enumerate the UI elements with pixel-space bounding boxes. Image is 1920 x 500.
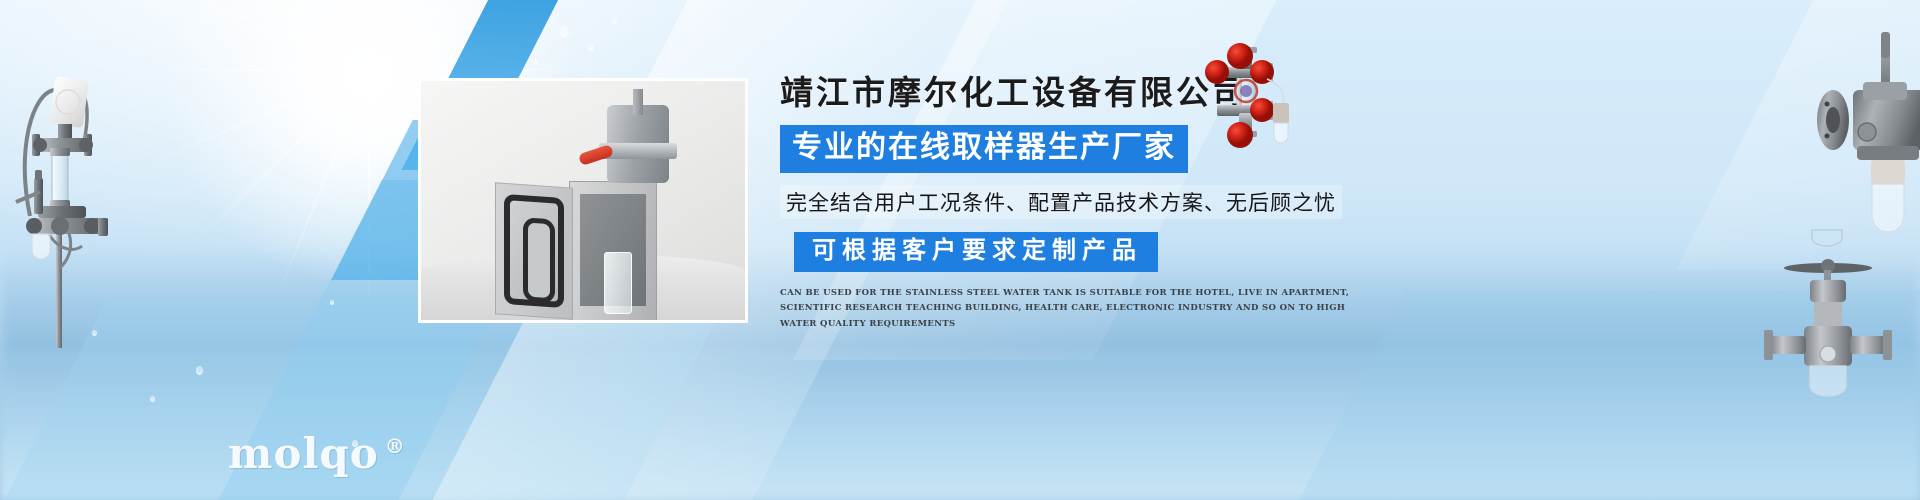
- watermark-text: molqo: [228, 429, 379, 478]
- sun-ray-icon: [368, 0, 370, 70]
- bottom-valve-illustration: [1760, 228, 1900, 403]
- water-droplet-icon: [534, 60, 538, 65]
- cta-badge[interactable]: 可根据客户要求定制产品: [794, 232, 1158, 272]
- water-droplet-icon: [588, 44, 594, 51]
- cross-valve-icon: [1205, 35, 1380, 160]
- photo-door-window: [523, 217, 555, 303]
- sub-headline: 完全结合用户工况条件、配置产品技术方案、无后顾之忧: [780, 185, 1342, 219]
- left-sampler-icon: [10, 20, 190, 350]
- water-droplet-icon: [560, 26, 569, 37]
- photo-cabinet-door: [495, 182, 573, 319]
- photo-cabinet-body: [569, 181, 657, 321]
- flange-valve-icon: [1805, 20, 1920, 235]
- photo-door-seal: [504, 194, 564, 308]
- registered-mark-icon: ®: [385, 434, 406, 458]
- water-droplet-icon: [330, 300, 334, 305]
- headline-badge: 专业的在线取样器生产厂家: [780, 125, 1188, 173]
- product-photo[interactable]: [418, 78, 748, 323]
- water-droplet-icon: [150, 396, 155, 402]
- photo-sample-bottle: [604, 252, 632, 314]
- double-flange-valve-icon: [1760, 228, 1900, 398]
- red-handwheel-icon: [1205, 60, 1229, 84]
- photo-valve-stem: [633, 89, 643, 115]
- promo-banner: 靖江市摩尔化工设备有限公司 专业的在线取样器生产厂家 完全结合用户工况条件、配置…: [0, 0, 1920, 500]
- watermark-logo: molqo®: [228, 429, 406, 478]
- cross-valve-illustration: [1205, 35, 1365, 150]
- red-handwheel-icon: [1227, 43, 1253, 69]
- flange-valve-wrapper: [1885, 20, 1920, 240]
- left-equipment-illustration: [10, 20, 190, 340]
- water-droplet-icon: [196, 366, 203, 375]
- red-handwheel-icon: [1227, 122, 1253, 148]
- water-droplet-icon: [612, 18, 617, 24]
- photo-cabinet-interior: [580, 194, 646, 306]
- red-handwheel-icon: [1250, 98, 1274, 122]
- english-description: CAN BE USED FOR THE STAINLESS STEEL WATE…: [780, 286, 1380, 333]
